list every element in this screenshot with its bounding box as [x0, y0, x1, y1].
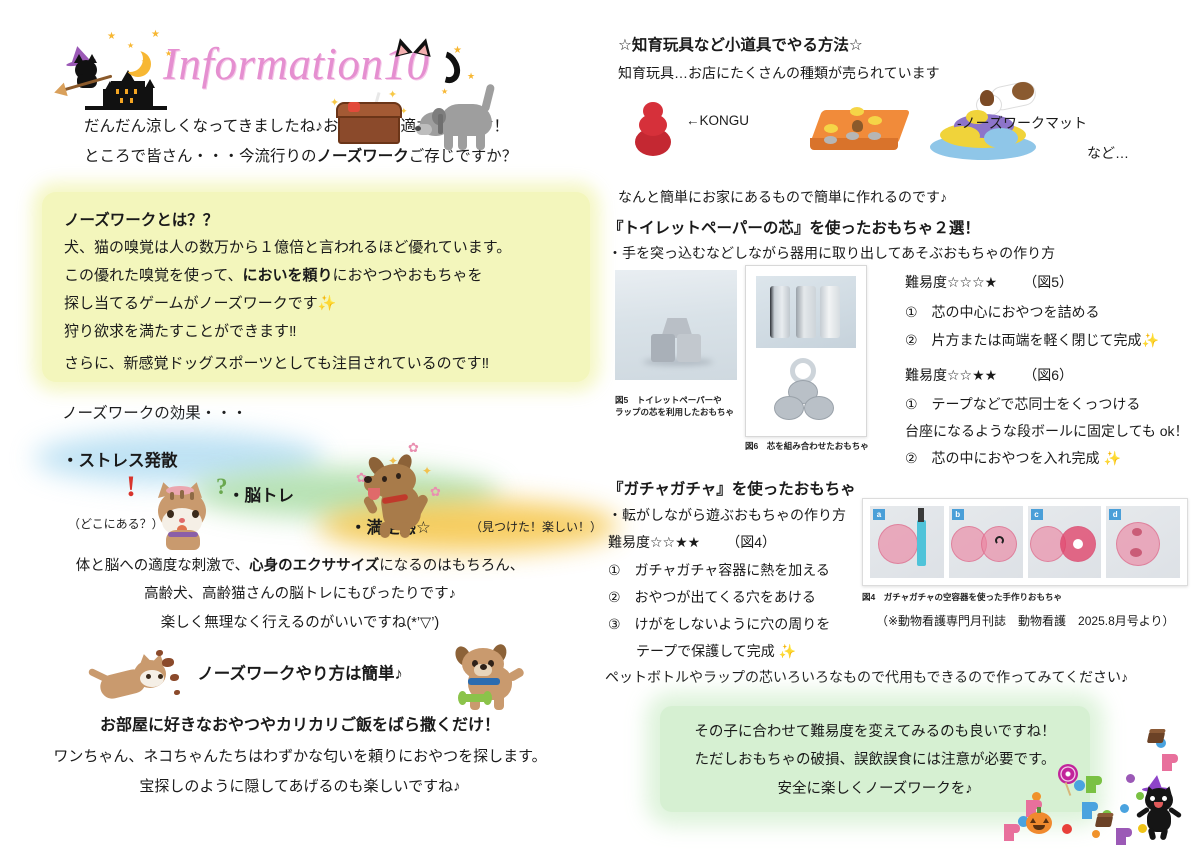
- fig5-caption-line-1: 図5 トイレットペーパーや: [615, 395, 722, 406]
- etc-label: など…: [1087, 143, 1129, 163]
- newsletter-page: ★ ★ ★ ★ ★ Information10 ★ ★ ★ だんだん涼しくなって…: [0, 0, 1200, 849]
- gacha-closing: ペットボトルやラップの芯いろいろなもので代用もできるので作ってみてください♪: [605, 667, 1128, 687]
- yellow-box-line-4: 狩り欲求を満たすことができます‼: [64, 318, 297, 346]
- effects-paragraph-line-2: 高齢犬、高齢猫さんの脳トレにもぴったりです♪: [0, 580, 600, 608]
- yellow-box-closing: さらに、新感覚ドッグスポーツとしても注目されているのです‼: [64, 350, 489, 378]
- fig4-photo-strip: a b c d: [862, 498, 1188, 586]
- gacha-step-2: ② おやつが出てくる穴をあける: [608, 587, 816, 607]
- witch-cat-icon: [61, 44, 117, 96]
- toys-section-heading: ☆知育玩具など小道具でやる方法☆: [618, 33, 863, 55]
- fig6-caption: 図6 芯を組み合わせたおもちゃ: [745, 441, 869, 452]
- kong-toy-icon: [635, 102, 671, 156]
- effects-heading: ノーズワークの効果・・・: [62, 402, 247, 425]
- toys-section-subheading: 知育玩具…お店にたくさんの種類が売られています: [618, 63, 940, 83]
- bone-icon: [462, 694, 488, 702]
- gacha-step-1: ① ガチャガチャ容器に熱を加える: [608, 560, 830, 580]
- mat-label: -ノーズワークマット: [957, 113, 1087, 133]
- photo-tag-a: a: [873, 509, 885, 520]
- yellow-box-line-1: 犬、猫の嗅覚は人の数万から１億倍と言われるほど優れています。: [64, 234, 511, 262]
- source-citation: （※動物看護専門月刊誌 動物看護 2025.8月号より）: [876, 612, 1175, 629]
- effect-note-right: （見つけた！楽しい！）: [470, 518, 600, 535]
- fig6-difficulty: 難易度☆☆★★（図6）: [905, 365, 1073, 385]
- fig6-step-note: 台座になるような段ボールに固定しても ok！: [905, 421, 1189, 441]
- photo-tag-d: d: [1109, 509, 1121, 520]
- howto-paragraph: お部屋に好きなおやつやカリカリご飯をばら撒くだけ！ ワンちゃん、ネコちゃんたちは…: [0, 710, 600, 802]
- yellow-box-line-3: 探し当てるゲームがノーズワークです✨: [64, 290, 336, 318]
- yellow-box-heading: ノーズワークとは？？: [64, 206, 218, 235]
- yellow-box-line-2: この優れた嗅覚を使って、においを頼りにおやつやおもちゃを: [64, 262, 483, 290]
- effects-paragraph: 体と脳への適度な刺激で、心身のエクササイズになるのはもちろん、 高齢犬、高齢猫さ…: [0, 552, 600, 637]
- treasure-chest-icon: ✦ ✦ ✦: [330, 88, 414, 150]
- howto-line-3: 宝探しのように隠してあげるのも楽しいですね♪: [0, 772, 600, 802]
- fig6-photo-top: [756, 276, 856, 348]
- fig6-photo-card: [745, 265, 867, 437]
- puzzle-toy-icon: [810, 104, 910, 154]
- sniffing-dog-icon: [418, 80, 508, 152]
- exclamation-mark: !: [126, 470, 136, 504]
- thinking-cat-icon: [148, 468, 214, 550]
- photo-tag-b: b: [952, 509, 964, 520]
- fig5-photo-group: 図5 トイレットペーパーや ラップの芯を利用したおもちゃ 図6 芯を組み合わせた…: [605, 215, 875, 435]
- effect-item-brain: ・脳トレ: [228, 482, 294, 506]
- fig5-step-1: ① 芯の中心におやつを詰める: [905, 302, 1100, 322]
- chocolate-icon: [1147, 732, 1165, 743]
- fig4-photo-b: b: [949, 506, 1023, 578]
- photo-tag-c: c: [1031, 509, 1043, 520]
- happy-dog-icon: ✿ ✿ ✿ ✦ ✦: [352, 440, 448, 540]
- howto-line-2: ワンちゃん、ネコちゃんたちはわずかな匂いを頼りにおやつを探します。: [0, 742, 600, 772]
- fig4-photo-c: c: [1028, 506, 1102, 578]
- gacha-step-3b: テープで保護して完成 ✨: [636, 641, 796, 661]
- diy-intro: なんと簡単にお家にあるもので簡単に作れるのです♪: [618, 187, 947, 207]
- nosework-definition-box: ノーズワークとは？？ 犬、猫の嗅覚は人の数万から１億倍と言われるほど優れています…: [42, 192, 590, 382]
- gacha-section-heading: 『ガチャガチャ』を使ったおもちゃ: [608, 477, 856, 499]
- gacha-difficulty: 難易度☆☆★★（図4）: [608, 532, 776, 552]
- fig5-step-2: ② 片方または両端を軽く閉じて完成✨: [905, 330, 1159, 350]
- gacha-step-3: ③ けがをしないように穴の周りを: [608, 614, 830, 634]
- halloween-decoration: [970, 716, 1200, 849]
- question-mark: ?: [216, 474, 228, 500]
- kong-label: ←KONGU: [686, 113, 749, 128]
- fig4-photo-a: a: [870, 506, 944, 578]
- fig5-caption-line-2: ラップの芯を利用したおもちゃ: [615, 407, 734, 418]
- fig5-difficulty: 難易度☆☆☆★（図5）: [905, 272, 1073, 292]
- black-cat-icon: [1136, 776, 1182, 836]
- howto-line-1: お部屋に好きなおやつやカリカリご飯をばら撒くだけ！: [0, 710, 600, 742]
- fig5-photo: [615, 270, 737, 380]
- fig4-caption: 図4 ガチャガチャの空容器を使った手作りおもちゃ: [862, 592, 1062, 603]
- right-column: ☆知育玩具など小道具でやる方法☆ 知育玩具…お店にたくさんの種類が売られています…: [600, 0, 1200, 849]
- fig4-photo-d: d: [1106, 506, 1180, 578]
- left-column: ★ ★ ★ ★ ★ Information10 ★ ★ ★ だんだん涼しくなって…: [0, 0, 600, 849]
- fig6-step-2: ② 芯の中におやつを入れ完成 ✨: [905, 448, 1121, 468]
- effects-paragraph-line-3: 楽しく無理なく行えるのがいいですね(*’▽’): [0, 609, 600, 637]
- lollipop-icon: [1058, 764, 1078, 784]
- gacha-bullet: ・転がしながら遊ぶおもちゃの作り方: [608, 505, 846, 525]
- dog-with-bone-icon: [452, 642, 536, 714]
- fig6-step-1: ① テープなどで芯同士をくっつける: [905, 394, 1140, 414]
- pumpkin-icon: [1026, 812, 1052, 834]
- effects-paragraph-line-1: 体と脳への適度な刺激で、心身のエクササイズになるのはもちろん、: [0, 552, 600, 580]
- fig6-photo-bottom: [760, 358, 854, 428]
- page-title: Information10: [163, 38, 430, 90]
